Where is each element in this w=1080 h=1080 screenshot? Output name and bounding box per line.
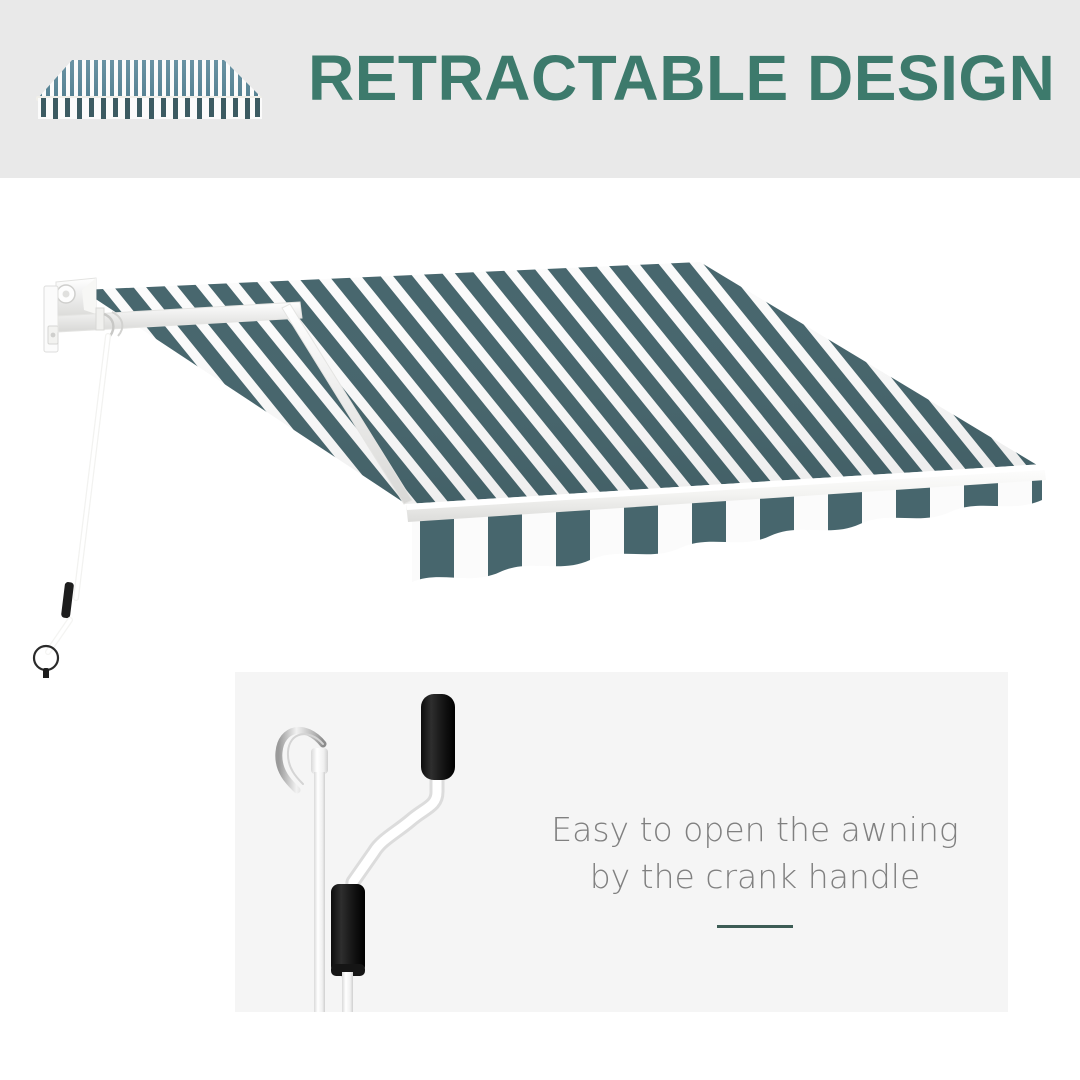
caption-line-1: Easy to open the awning bbox=[520, 807, 990, 854]
black-rubber-grip-lower bbox=[331, 884, 365, 974]
product-feature-image: RETRACTABLE DESIGN bbox=[0, 0, 1080, 1080]
black-rubber-grip-upper bbox=[421, 694, 455, 780]
caption-line-2: by the crank handle bbox=[520, 854, 990, 901]
crank-handle-photo bbox=[235, 672, 535, 1012]
feature-inset-card: Easy to open the awning by the crank han… bbox=[235, 672, 1008, 1012]
striped-awning-icon bbox=[34, 52, 262, 122]
caption-block: Easy to open the awning by the crank han… bbox=[520, 807, 990, 928]
page-title: RETRACTABLE DESIGN bbox=[308, 46, 1028, 110]
retractable-awning-illustration bbox=[0, 178, 1080, 678]
caption-divider bbox=[717, 925, 793, 928]
